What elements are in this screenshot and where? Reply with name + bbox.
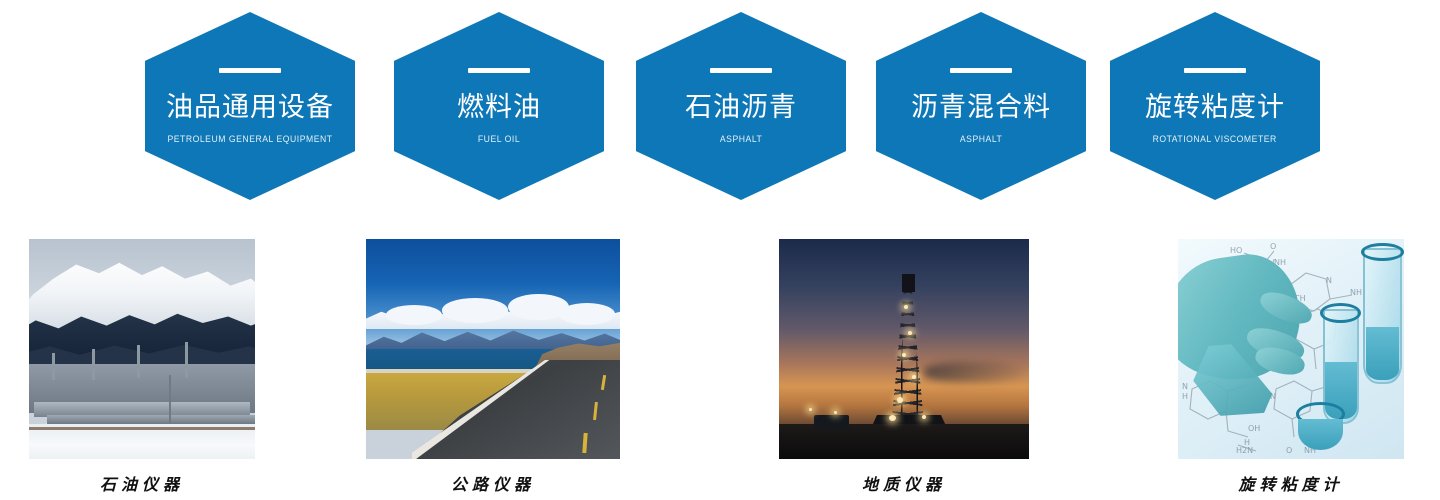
svg-text:N: N xyxy=(1326,276,1332,285)
showcase-image-petroleum-instruments xyxy=(29,239,255,459)
svg-text:O: O xyxy=(1286,446,1292,455)
svg-text:N: N xyxy=(1182,382,1188,391)
showcase-caption-highway-instruments: 公路仪器 xyxy=(366,471,620,495)
category-showcase-page: 油品通用设备 PETROLEUM GENERAL EQUIPMENT 燃料油 F… xyxy=(0,0,1440,500)
showcase-image-geological-instruments xyxy=(779,239,1029,459)
showcase-caption-geological-instruments: 地质仪器 xyxy=(779,471,1029,495)
showcase-image-rotational-viscometer: HO O NH HO O CH N NH N N N H N xyxy=(1178,239,1404,459)
svg-text:O: O xyxy=(1270,242,1276,251)
showcase-caption-rotational-viscometer: 旋转粘度计 xyxy=(1178,471,1404,495)
svg-text:HO: HO xyxy=(1230,246,1242,255)
svg-text:OH: OH xyxy=(1248,424,1260,433)
showcase-caption-petroleum-instruments: 石油仪器 xyxy=(29,471,255,495)
svg-text:H: H xyxy=(1182,392,1188,401)
showcase-image-highway-instruments xyxy=(366,239,620,459)
photo-showcase-row: 石油仪器 xyxy=(0,0,1440,500)
svg-text:H2N: H2N xyxy=(1236,446,1253,455)
svg-text:NH: NH xyxy=(1350,288,1362,297)
